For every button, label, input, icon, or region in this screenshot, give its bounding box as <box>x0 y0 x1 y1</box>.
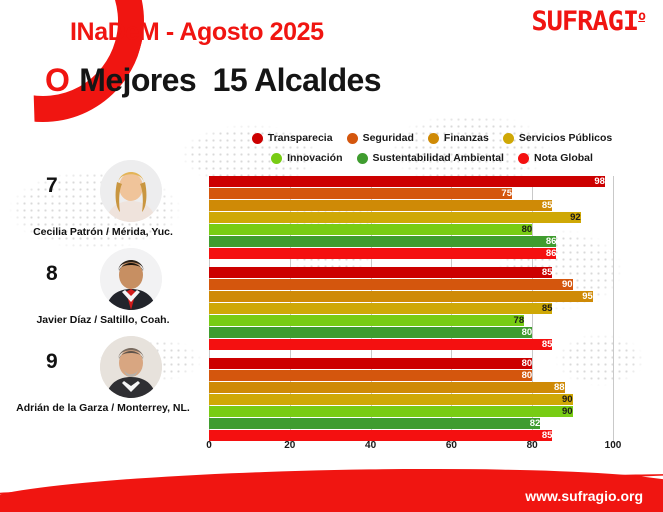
avatar-portrait-icon <box>100 336 162 398</box>
bar-row: 75 <box>209 188 613 199</box>
bar-value-label: 80 <box>209 370 536 381</box>
bar-row: 82 <box>209 418 613 429</box>
legend-label: Finanzas <box>444 132 489 144</box>
bar-group: 80808890908285 <box>209 358 613 441</box>
legend-color-dot-icon <box>357 153 368 164</box>
bar-value-label: 75 <box>209 188 516 199</box>
legend-item-innovaci-n: Innovación <box>271 152 342 164</box>
bar-row: 90 <box>209 394 613 405</box>
legend-color-dot-icon <box>347 133 358 144</box>
x-axis-tick-label: 40 <box>365 440 376 451</box>
bar-value-label: 85 <box>209 200 556 211</box>
legend-item-servicios-p-blicos: Servicios Públicos <box>503 132 612 144</box>
bar-value-label: 82 <box>209 418 544 429</box>
bar-value-label: 92 <box>209 212 585 223</box>
bar-value-label: 95 <box>209 291 597 302</box>
legend-item-seguridad: Seguridad <box>347 132 414 144</box>
sufragio-logo: SUFRAGIo <box>531 8 645 35</box>
bar-row: 80 <box>209 224 613 235</box>
bar-row: 85 <box>209 200 613 211</box>
infographic-canvas: SUFRAGIo INaDeM - Agosto 2025 O Mejores … <box>0 0 663 512</box>
legend-label: Innovación <box>287 152 342 164</box>
legend-color-dot-icon <box>503 133 514 144</box>
bar-row: 85 <box>209 267 613 278</box>
bar-value-label: 78 <box>209 315 528 326</box>
legend-color-dot-icon <box>518 153 529 164</box>
legend-row-1: TranspareciaSeguridadFinanzasServicios P… <box>212 128 652 148</box>
bar-row: 80 <box>209 358 613 369</box>
ranking-list-item: 8Javier Díaz / Saltillo, Coah. <box>0 248 206 336</box>
legend-item-transparecia: Transparecia <box>252 132 333 144</box>
legend-row-2: InnovaciónSustentabilidad AmbientalNota … <box>212 148 652 168</box>
bar-row: 92 <box>209 212 613 223</box>
footer-website-url: www.sufragio.org <box>525 488 643 504</box>
bar-row: 80 <box>209 327 613 338</box>
bar-row: 85 <box>209 303 613 314</box>
bar-group: 98758592808686 <box>209 176 613 259</box>
bar-value-label: 90 <box>209 394 577 405</box>
bar-row: 85 <box>209 339 613 350</box>
bar-row: 78 <box>209 315 613 326</box>
legend-item-sustentabilidad-ambiental: Sustentabilidad Ambiental <box>357 152 504 164</box>
rank-number: 8 <box>46 262 58 286</box>
chart-x-axis: 020406080100 <box>209 440 613 458</box>
logo-superscript: o <box>638 9 645 24</box>
bar-value-label: 86 <box>209 248 560 259</box>
bar-value-label: 80 <box>209 327 536 338</box>
legend-label: Nota Global <box>534 152 593 164</box>
bar-value-label: 88 <box>209 382 569 393</box>
bar-value-label: 85 <box>209 303 556 314</box>
bar-value-label: 98 <box>209 176 609 187</box>
chart-legend: TranspareciaSeguridadFinanzasServicios P… <box>212 128 652 168</box>
legend-color-dot-icon <box>428 133 439 144</box>
avatar <box>100 248 162 310</box>
bar-value-label: 85 <box>209 267 556 278</box>
bar-value-label: 90 <box>209 279 577 290</box>
legend-label: Servicios Públicos <box>519 132 612 144</box>
x-axis-tick-label: 0 <box>206 440 212 451</box>
legend-color-dot-icon <box>271 153 282 164</box>
page-title: O Mejores 15 Alcaldes <box>45 62 381 99</box>
bar-value-label: 80 <box>209 358 536 369</box>
bar-value-label: 90 <box>209 406 577 417</box>
bar-value-label: 86 <box>209 236 560 247</box>
rank-number: 7 <box>46 174 58 198</box>
ordinal-marker: O <box>45 64 69 96</box>
ranking-list-item: 7Cecilia Patrón / Mérida, Yuc. <box>0 160 206 248</box>
bar-row: 86 <box>209 236 613 247</box>
x-axis-tick-label: 20 <box>284 440 295 451</box>
ranking-list: 7Cecilia Patrón / Mérida, Yuc.8Javier Dí… <box>0 160 206 424</box>
chart-bar-groups: 9875859280868685909585788085808088909082… <box>209 176 613 438</box>
bar-row: 80 <box>209 370 613 381</box>
bar-group: 85909585788085 <box>209 267 613 350</box>
x-axis-tick-label: 80 <box>527 440 538 451</box>
gridline <box>613 176 614 444</box>
legend-color-dot-icon <box>252 133 263 144</box>
page-subtitle: Mejores 15 Alcaldes <box>79 62 381 99</box>
bar-row: 95 <box>209 291 613 302</box>
bar-row: 98 <box>209 176 613 187</box>
x-axis-tick-label: 100 <box>605 440 622 451</box>
bar-row: 88 <box>209 382 613 393</box>
legend-label: Transparecia <box>268 132 333 144</box>
x-axis-tick-label: 60 <box>446 440 457 451</box>
avatar <box>100 336 162 398</box>
rank-number: 9 <box>46 350 58 374</box>
legend-item-finanzas: Finanzas <box>428 132 489 144</box>
horizontal-bar-chart: 9875859280868685909585788085808088909082… <box>209 176 613 438</box>
legend-label: Seguridad <box>363 132 414 144</box>
footer-banner: www.sufragio.org <box>0 464 663 512</box>
avatar-portrait-icon <box>100 160 162 222</box>
legend-item-nota-global: Nota Global <box>518 152 593 164</box>
legend-label: Sustentabilidad Ambiental <box>373 152 504 164</box>
logo-wordmark: SUFRAGI <box>531 6 638 37</box>
person-name-location: Cecilia Patrón / Mérida, Yuc. <box>0 226 206 238</box>
bar-value-label: 80 <box>209 224 536 235</box>
bar-row: 86 <box>209 248 613 259</box>
avatar-portrait-icon <box>100 248 162 310</box>
ranking-list-item: 9Adrián de la Garza / Monterrey, NL. <box>0 336 206 424</box>
bar-row: 90 <box>209 279 613 290</box>
avatar <box>100 160 162 222</box>
bar-row: 90 <box>209 406 613 417</box>
person-name-location: Javier Díaz / Saltillo, Coah. <box>0 314 206 326</box>
page-headline: INaDeM - Agosto 2025 <box>70 18 324 47</box>
bar-value-label: 85 <box>209 339 556 350</box>
person-name-location: Adrián de la Garza / Monterrey, NL. <box>0 402 206 414</box>
